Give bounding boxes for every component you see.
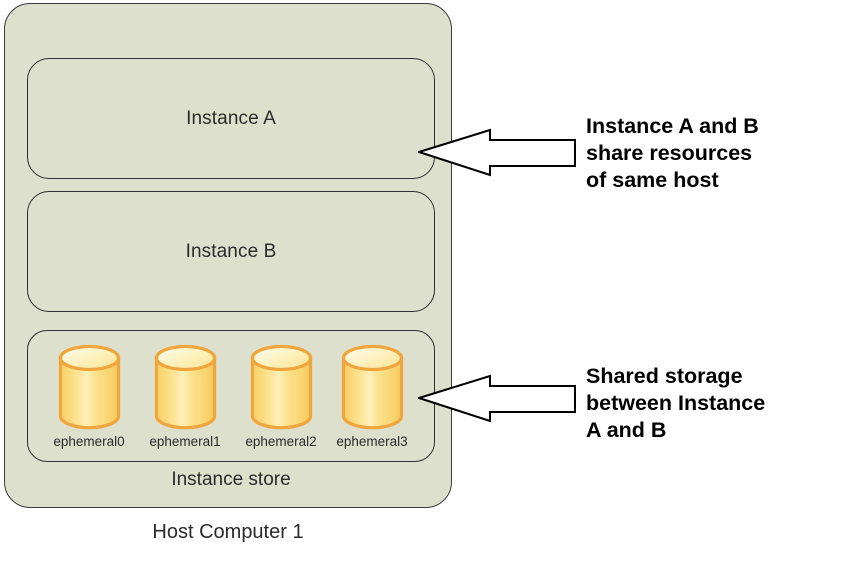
instance-store-label: Instance store [27,469,435,491]
ephemeral1-label: ephemeral1 [137,434,233,449]
ephemeral-disk-row: ephemeral0 ephemeral1 ephemeral2 ephemer… [28,331,434,461]
ephemeral2-label: ephemeral2 [233,434,329,449]
ephemeral0-label: ephemeral0 [41,434,137,449]
ephemeral2-disk-icon [249,343,314,431]
ephemeral3-label: ephemeral3 [324,434,420,449]
instance-a-box: Instance A [27,58,435,179]
instance-store-box: ephemeral0 ephemeral1 ephemeral2 ephemer… [27,330,435,462]
diagram-canvas: Instance A Instance B [0,0,853,564]
ephemeral1-disk-icon [153,343,218,431]
ephemeral0-disk-icon [57,343,122,431]
annotation-shared-storage: Shared storage between Instance A and B [586,363,848,444]
callout-arrow-storage-icon [418,366,576,430]
ephemeral3-disk-icon [340,343,405,431]
instance-b-box: Instance B [27,191,435,312]
callout-arrow-instances-icon [418,120,576,184]
annotation-instances-share-resources: Instance A and B share resources of same… [586,113,848,194]
host-computer-box: Instance A Instance B [4,3,452,508]
instance-b-label: Instance B [28,241,434,263]
host-computer-caption: Host Computer 1 [4,521,452,544]
instance-a-label: Instance A [28,108,434,130]
